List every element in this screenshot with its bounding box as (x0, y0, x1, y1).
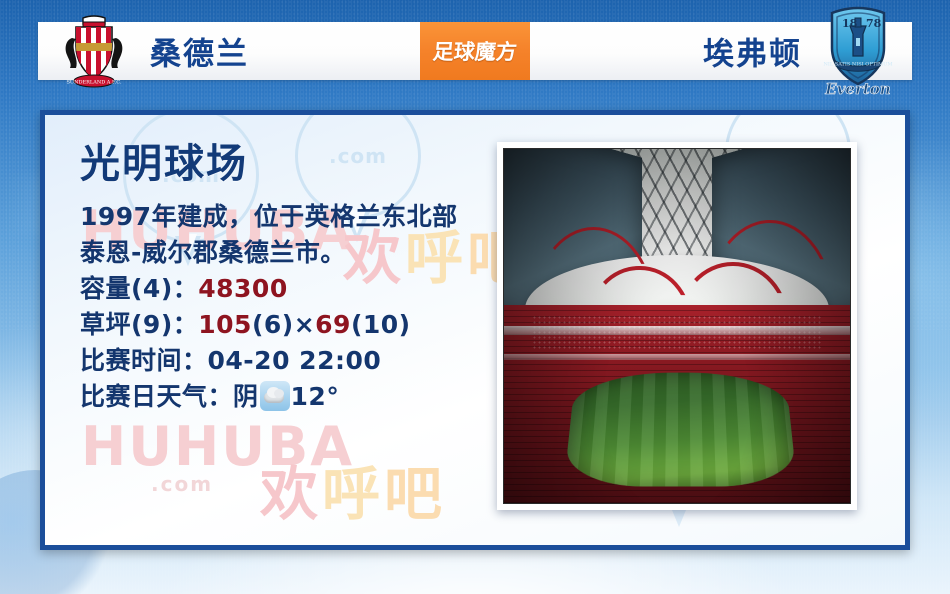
watermark-cheer-char-6: 吧 (384, 460, 446, 528)
everton-year-right: 78 (866, 17, 882, 30)
weather-condition: 阴 (233, 382, 259, 411)
pitch-length-value: 105 (198, 310, 252, 339)
match-header-bar: SUNDERLAND A.F.C. 桑德兰 足球魔方 埃弗顿 (38, 22, 912, 80)
svg-text:NIL SATIS NISI OPTIMUM: NIL SATIS NISI OPTIMUM (824, 62, 893, 68)
home-team-name: 桑德兰 (150, 29, 249, 74)
svg-text:SUNDERLAND A.F.C.: SUNDERLAND A.F.C. (66, 80, 121, 86)
match-time-value: 04-20 22:00 (208, 346, 382, 375)
stadium-info-card: SUNDERLAND A.F.C. 桑德兰 足球魔方 埃弗顿 (0, 0, 950, 594)
stadium-description-line-2: 泰恩-威尔郡桑德兰市。 (80, 235, 500, 271)
weather-temperature: 12° (291, 382, 340, 411)
stadium-info-text: 光明球场 1997年建成，位于英格兰东北部 泰恩-威尔郡桑德兰市。 容量(4)：… (80, 143, 500, 415)
everton-crest: 18 78 NIL SATIS NISI OPTIMUM Everton (816, 4, 900, 98)
stadium-title: 光明球场 (80, 143, 500, 185)
match-time-label: 比赛时间： (80, 346, 208, 375)
weather-label: 比赛日天气： (80, 382, 233, 411)
brand-logo-text: 足球魔方 (432, 36, 519, 66)
capacity-value: 48300 (198, 274, 287, 303)
pitch-width-value: 69 (315, 310, 351, 339)
pitch-length-rank: (6) (252, 310, 294, 339)
everton-wordmark: Everton (824, 80, 890, 98)
stadium-photo (503, 148, 851, 504)
sunderland-crest: SUNDERLAND A.F.C. (58, 12, 130, 90)
pitch-width-rank: (10) (351, 310, 411, 339)
watermark-cheer-char-5: 呼 (322, 460, 384, 528)
cloudy-icon (260, 381, 290, 411)
capacity-row: 容量(4)：48300 (80, 271, 500, 307)
watermark-cheer-char-4: 欢 (260, 460, 322, 528)
stadium-description-line-1: 1997年建成，位于英格兰东北部 (80, 199, 500, 235)
stadium-photo-frame (497, 142, 857, 510)
capacity-label: 容量(4)： (80, 274, 198, 303)
pitch-multiply-sign: × (294, 310, 315, 339)
brand-logo[interactable]: 足球魔方 (420, 22, 530, 80)
everton-year-left: 18 (842, 17, 858, 30)
match-time-row: 比赛时间：04-20 22:00 (80, 343, 500, 379)
pitch-label: 草坪(9)： (80, 310, 198, 339)
away-team-name: 埃弗顿 (703, 29, 802, 74)
pitch-row: 草坪(9)：105(6)×69(10) (80, 307, 500, 343)
stadium-panel: .com .com .com HUHUBA HUHUBA .com 欢呼吧 欢呼… (40, 110, 910, 550)
weather-row: 比赛日天气：阴12° (80, 379, 500, 415)
watermark-brand-bottom: HUHUBA .com (81, 415, 354, 496)
watermark-brand-suffix: .com (151, 472, 354, 496)
watermark-cheer-bottom: 欢呼吧 (260, 447, 446, 531)
watermark-brand-text-2: HUHUBA (81, 415, 354, 478)
